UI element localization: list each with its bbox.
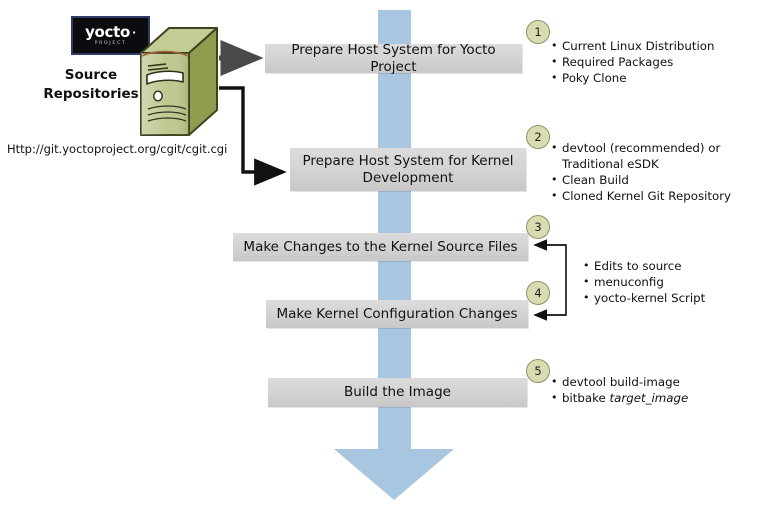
diagram-canvas: yocto· PROJECT Source Repositories Http:… bbox=[0, 0, 769, 517]
process-box-step5-label: Build the Image bbox=[344, 384, 451, 401]
list-item: Required Packages bbox=[551, 54, 714, 70]
step-number-2: 2 bbox=[526, 125, 550, 149]
process-box-step1[interactable]: Prepare Host System for Yocto Project bbox=[265, 44, 522, 73]
process-box-step4-label: Make Kernel Configuration Changes bbox=[276, 306, 517, 323]
process-box-step4[interactable]: Make Kernel Configuration Changes bbox=[266, 300, 528, 328]
step-number-5: 5 bbox=[526, 359, 550, 383]
list-item: Cloned Kernel Git Repository bbox=[551, 188, 731, 204]
process-box-step2[interactable]: Prepare Host System for Kernel Developme… bbox=[290, 148, 526, 191]
yocto-logo-text: yocto bbox=[85, 23, 130, 41]
step-number-3-text: 3 bbox=[534, 220, 541, 234]
source-label-line1: Source bbox=[31, 66, 151, 85]
bullet-text: devtool (recommended) or bbox=[562, 141, 720, 155]
bullet-text: Edits to source bbox=[594, 259, 682, 273]
bullet-text: Poky Clone bbox=[562, 71, 627, 85]
step-number-2-text: 2 bbox=[534, 130, 541, 144]
bullet-text: menuconfig bbox=[594, 275, 664, 289]
bullet-text-italic: target_image bbox=[610, 391, 689, 405]
list-item: Edits to source bbox=[583, 258, 705, 274]
process-box-step2-label-line1: Prepare Host System for Kernel bbox=[302, 153, 513, 169]
source-label-line2: Repositories bbox=[31, 85, 151, 104]
list-item: Current Linux Distribution bbox=[551, 38, 714, 54]
list-item: menuconfig bbox=[583, 274, 705, 290]
step-number-1: 1 bbox=[526, 20, 550, 44]
list-item: bitbake target_image bbox=[551, 390, 688, 406]
step-number-4: 4 bbox=[526, 281, 550, 305]
list-item: devtool (recommended) or Traditional eSD… bbox=[551, 140, 731, 172]
yocto-logo-subtitle: PROJECT bbox=[95, 42, 127, 47]
bullet-text: devtool build-image bbox=[562, 375, 680, 389]
process-box-step5[interactable]: Build the Image bbox=[268, 378, 527, 407]
bullet-list-step1: Current Linux Distribution Required Pack… bbox=[551, 38, 714, 86]
list-item: yocto-kernel Script bbox=[583, 290, 705, 306]
bullet-list-steps-3-4: Edits to source menuconfig yocto-kernel … bbox=[583, 258, 705, 306]
bullet-text: Clean Build bbox=[562, 173, 629, 187]
server-tower-icon bbox=[136, 26, 222, 140]
step-number-3: 3 bbox=[526, 215, 550, 239]
step-number-5-text: 5 bbox=[534, 364, 541, 378]
bullet-text: bitbake bbox=[562, 391, 610, 405]
list-item: Clean Build bbox=[551, 172, 731, 188]
step-number-1-text: 1 bbox=[534, 25, 541, 39]
source-repositories-label: Source Repositories bbox=[31, 66, 151, 104]
bullet-text-continued: Traditional eSDK bbox=[562, 156, 731, 172]
process-box-step2-label: Prepare Host System for Kernel Developme… bbox=[302, 153, 513, 187]
bullet-text: yocto-kernel Script bbox=[594, 291, 705, 305]
process-box-step3[interactable]: Make Changes to the Kernel Source Files bbox=[233, 233, 528, 261]
arrow-server-to-step2 bbox=[219, 88, 283, 172]
list-item: Poky Clone bbox=[551, 70, 714, 86]
bullet-text: Current Linux Distribution bbox=[562, 39, 714, 53]
yocto-logo-wordmark: yocto· bbox=[85, 25, 136, 40]
process-box-step2-label-line2: Development bbox=[363, 170, 454, 186]
process-box-step1-label: Prepare Host System for Yocto Project bbox=[271, 42, 516, 76]
bullet-list-step5: devtool build-image bitbake target_image bbox=[551, 374, 688, 406]
repository-url: Http://git.yoctoproject.org/cgit/cgit.cg… bbox=[7, 142, 227, 156]
bullet-list-step2: devtool (recommended) or Traditional eSD… bbox=[551, 140, 731, 204]
flow-arrow-head bbox=[334, 449, 454, 500]
list-item: devtool build-image bbox=[551, 374, 688, 390]
step-number-4-text: 4 bbox=[534, 286, 541, 300]
bullet-text: Cloned Kernel Git Repository bbox=[562, 189, 731, 203]
process-box-step3-label: Make Changes to the Kernel Source Files bbox=[243, 239, 517, 256]
bullet-text: Required Packages bbox=[562, 55, 673, 69]
